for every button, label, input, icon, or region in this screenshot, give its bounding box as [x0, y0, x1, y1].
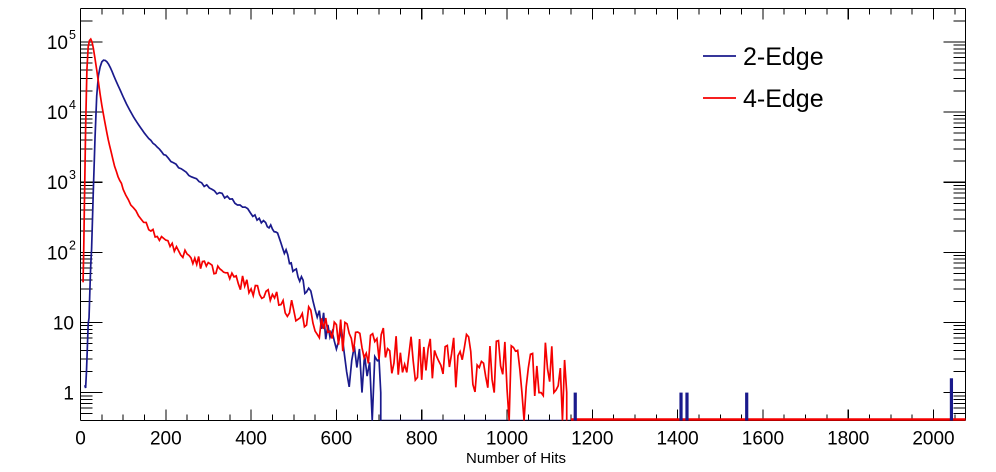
x-tick-label: 800: [406, 429, 438, 450]
svg-text:10: 10: [47, 103, 68, 124]
x-tick-label: 0: [75, 429, 86, 450]
svg-text:3: 3: [69, 168, 76, 182]
svg-text:4: 4: [69, 98, 76, 112]
x-tick-label: 400: [235, 429, 267, 450]
svg-text:1: 1: [63, 384, 74, 405]
x-tick-label: 1000: [486, 429, 528, 450]
legend-label-4-edge: 4-Edge: [743, 85, 824, 113]
svg-text:2: 2: [69, 238, 76, 252]
x-tick-label: 2000: [912, 429, 954, 450]
svg-text:10: 10: [47, 33, 68, 54]
y-tick-label: 1: [63, 384, 74, 405]
x-tick-label: 600: [321, 429, 353, 450]
plot-background: [0, 0, 996, 472]
x-tick-label: 1800: [827, 429, 869, 450]
chart-canvas: 0200400600800100012001400160018002000 11…: [0, 0, 996, 472]
histogram-plot: 0200400600800100012001400160018002000 11…: [0, 0, 996, 472]
svg-text:10: 10: [47, 243, 68, 264]
svg-text:10: 10: [53, 313, 74, 334]
svg-text:5: 5: [69, 28, 76, 42]
x-tick-label: 200: [150, 429, 182, 450]
svg-text:10: 10: [47, 173, 68, 194]
x-tick-label: 1600: [742, 429, 784, 450]
x-tick-label: 1400: [656, 429, 698, 450]
x-tick-label: 1200: [571, 429, 613, 450]
y-tick-label: 10: [53, 313, 74, 334]
x-axis-title: Number of Hits: [466, 450, 566, 467]
legend-label-2-edge: 2-Edge: [743, 43, 824, 71]
